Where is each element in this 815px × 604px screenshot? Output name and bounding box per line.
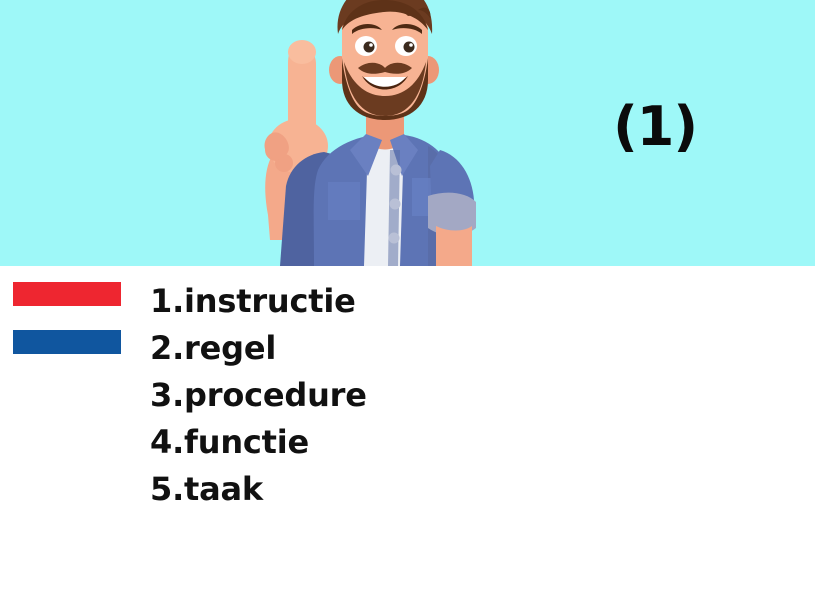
man-pointing-up-illustration [232,0,492,266]
list-item: 3.procedure [150,372,367,419]
list-item-word: functie [184,423,309,461]
hero-panel: (1) [0,0,815,266]
flag-stripe-red [13,282,121,306]
flag-stripe-white [13,306,121,330]
list-item-number: 1. [150,278,184,325]
list-item-number: 5. [150,466,184,513]
list-item: 4.functie [150,419,367,466]
list-item: 5.taak [150,466,367,513]
dutch-flag-icon [13,282,121,354]
list-item-number: 2. [150,325,184,372]
list-item-word: taak [184,470,263,508]
lesson-number: (1) [613,100,697,154]
list-item: 2.regel [150,325,367,372]
list-item-word: procedure [184,376,367,414]
content-area: 1.instructie 2.regel 3.procedure 4.funct… [0,266,815,604]
vocabulary-card: (1) 1.instructie 2.regel 3.procedure 4.f… [0,0,815,604]
list-item-number: 4. [150,419,184,466]
word-list: 1.instructie 2.regel 3.procedure 4.funct… [150,278,367,513]
list-item-word: instructie [184,282,356,320]
list-item: 1.instructie [150,278,367,325]
flag-stripe-blue [13,330,121,354]
list-item-word: regel [184,329,276,367]
list-item-number: 3. [150,372,184,419]
